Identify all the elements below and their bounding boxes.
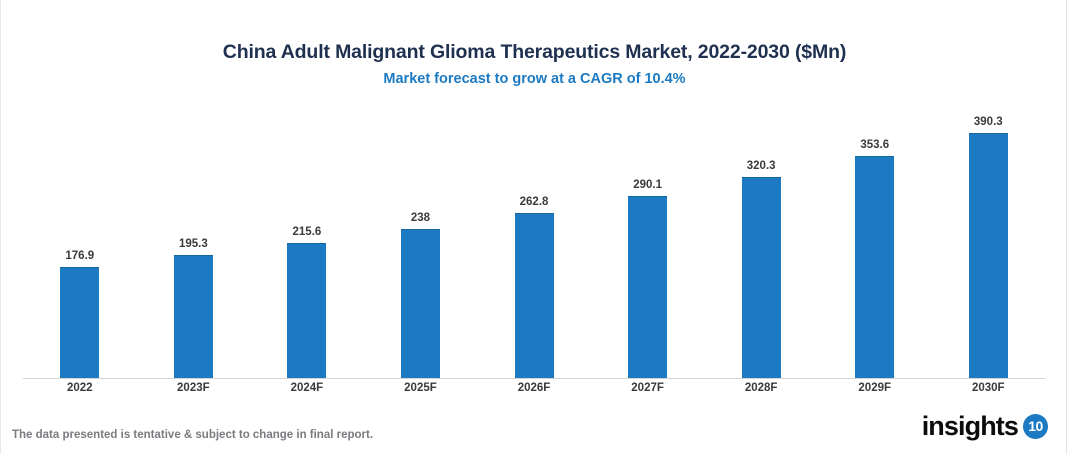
bar-value-label: 238 [411,212,430,225]
bar-slot: 176.9 [23,108,137,378]
bar[interactable] [287,243,326,378]
logo-badge-icon: 10 [1023,414,1048,439]
x-axis-tick-label: 2026F [477,381,591,395]
insights10-logo: insights 10 [922,409,1048,443]
bar-slot: 390.3 [932,108,1046,378]
chart-page: China Adult Malignant Glioma Therapeutic… [0,0,1067,454]
bar-value-label: 390.3 [974,116,1003,129]
bar[interactable] [628,196,667,378]
title-block: China Adult Malignant Glioma Therapeutic… [1,40,1067,88]
bar-value-label: 320.3 [747,160,776,173]
bar[interactable] [969,133,1008,378]
x-axis-tick-label: 2024F [250,381,364,395]
x-axis-tick-label: 2028F [704,381,818,395]
bar-slot: 290.1 [591,108,705,378]
bar-value-label: 262.8 [520,196,549,209]
bar-slot: 195.3 [137,108,251,378]
bar-series: 176.9 195.3 215.6 238 262.8 290.1 [23,108,1045,378]
bar-slot: 320.3 [704,108,818,378]
bar-value-label: 176.9 [65,250,94,263]
chart-subtitle: Market forecast to grow at a CAGR of 10.… [1,70,1067,88]
disclaimer-text: The data presented is tentative & subjec… [12,428,373,442]
x-axis-tick-label: 2025F [364,381,478,395]
x-axis-tick-label: 2022 [23,381,137,395]
bar-slot: 215.6 [250,108,364,378]
logo-wordmark: insights [922,411,1018,441]
bar[interactable] [742,177,781,378]
bar-value-label: 195.3 [179,238,208,251]
x-axis-tick-label: 2029F [818,381,932,395]
bar[interactable] [60,267,99,378]
bar-value-label: 215.6 [293,226,322,239]
bar-slot: 238 [364,108,478,378]
x-axis-tick-label: 2023F [137,381,251,395]
bar[interactable] [174,255,213,378]
x-axis-line [23,378,1045,379]
chart-title: China Adult Malignant Glioma Therapeutic… [1,40,1067,64]
bar-value-label: 353.6 [860,139,889,152]
bar-value-label: 290.1 [633,179,662,192]
bar[interactable] [855,156,894,378]
x-axis-tick-label: 2027F [591,381,705,395]
x-axis-tick-label: 2030F [932,381,1046,395]
plot-area: 176.9 195.3 215.6 238 262.8 290.1 [23,108,1045,379]
bar[interactable] [515,213,554,378]
bar-slot: 262.8 [477,108,591,378]
bar[interactable] [401,229,440,378]
x-axis-labels: 2022 2023F 2024F 2025F 2026F 2027F 2028F… [23,381,1045,395]
bar-slot: 353.6 [818,108,932,378]
